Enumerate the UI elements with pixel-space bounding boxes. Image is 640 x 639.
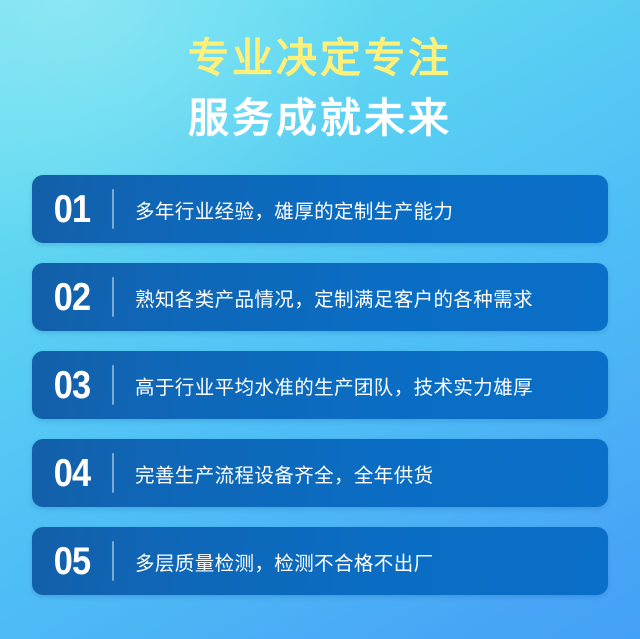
list-item: 01 多年行业经验，雄厚的定制生产能力 [32, 175, 608, 243]
card-text-02: 熟知各类产品情况，定制满足客户的各种需求 [114, 283, 608, 312]
card-number-01: 01 [37, 190, 107, 229]
card-number-02: 02 [37, 278, 107, 317]
list-item: 02 熟知各类产品情况，定制满足客户的各种需求 [32, 263, 608, 331]
card-text-04: 完善生产流程设备齐全，全年供货 [114, 459, 608, 488]
advantage-card-list: 01 多年行业经验，雄厚的定制生产能力 02 熟知各类产品情况，定制满足客户的各… [0, 175, 640, 595]
list-item: 03 高于行业平均水准的生产团队，技术实力雄厚 [32, 351, 608, 419]
card-number-04: 04 [37, 454, 107, 493]
card-number-03: 03 [37, 366, 107, 405]
list-item: 04 完善生产流程设备齐全，全年供货 [32, 439, 608, 507]
card-text-01: 多年行业经验，雄厚的定制生产能力 [114, 195, 608, 224]
card-number-05: 05 [37, 542, 107, 581]
promo-poster: 专业决定专注 服务成就未来 01 多年行业经验，雄厚的定制生产能力 02 熟知各… [0, 0, 640, 639]
headline-line-2: 服务成就未来 [0, 98, 640, 139]
card-text-05: 多层质量检测，检测不合格不出厂 [114, 547, 608, 576]
headline-block: 专业决定专注 服务成就未来 [0, 0, 640, 139]
headline-line-1: 专业决定专注 [0, 38, 640, 79]
list-item: 05 多层质量检测，检测不合格不出厂 [32, 527, 608, 595]
card-text-03: 高于行业平均水准的生产团队，技术实力雄厚 [114, 371, 608, 400]
